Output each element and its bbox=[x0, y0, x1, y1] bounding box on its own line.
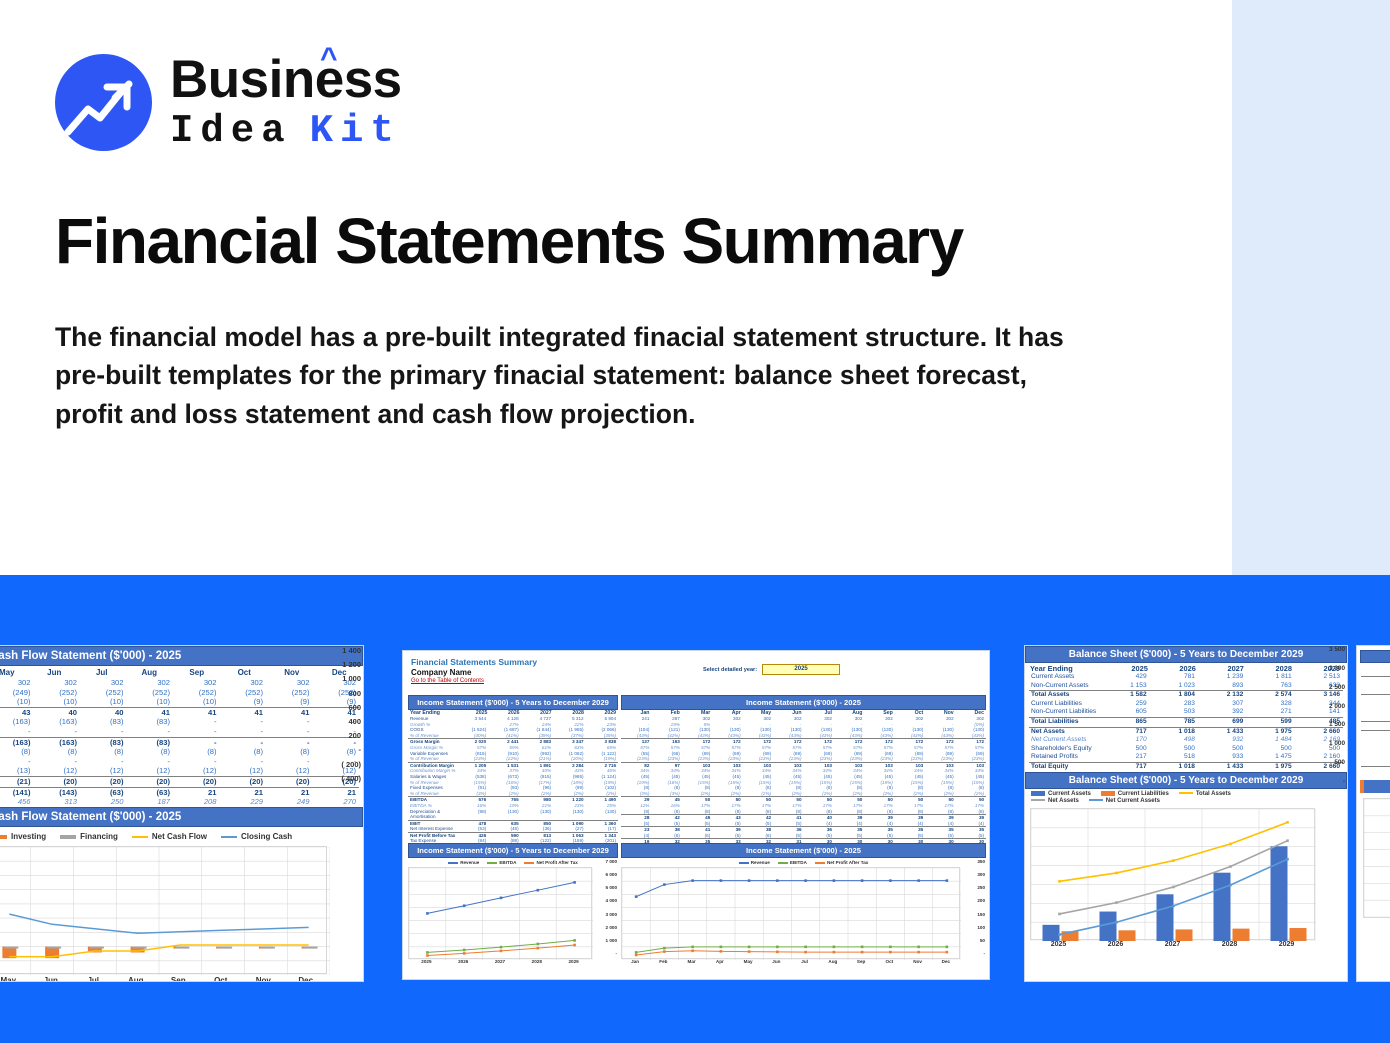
cash-flow-cell: (12) bbox=[173, 766, 220, 776]
bs-row-header: Year Ending bbox=[1029, 664, 1103, 673]
bs-row: Retained Profits2175189331 4752 160 bbox=[1029, 753, 1343, 762]
is-cell: (4) bbox=[834, 821, 864, 827]
cash-flow-cell: - bbox=[173, 757, 220, 767]
is-cell: (43%) bbox=[712, 733, 742, 739]
is-cell: (2%) bbox=[895, 791, 925, 797]
bs-cell: 170 bbox=[1101, 736, 1149, 745]
bs-cell: 217 bbox=[1101, 753, 1149, 762]
legend-swatch bbox=[1031, 791, 1045, 796]
is-cell: (53) bbox=[456, 826, 488, 832]
legend-label: Net Cash Flow bbox=[152, 832, 207, 841]
is-row: % of Revenue(23%)(22%)(21%)(20%)(19%) bbox=[408, 756, 618, 762]
is-cell: (42%) bbox=[651, 733, 681, 739]
cash-flow-cell: (12) bbox=[266, 766, 313, 776]
is-cell: (2%) bbox=[521, 791, 553, 797]
cash-flow-cell: (20) bbox=[127, 777, 174, 787]
is-row: 284245434241403939393939 bbox=[621, 814, 986, 821]
legend-label: Closing Cash bbox=[241, 832, 292, 841]
cash-flow-cell: - bbox=[266, 717, 313, 727]
far-right-panel[interactable]: Jan 1 1741241 297936927865121 0815001251… bbox=[1356, 645, 1390, 982]
cash-flow-panel[interactable]: Cash Flow Statement ($'000) - 2025 MayJu… bbox=[0, 645, 364, 982]
is-cell: (130) bbox=[586, 809, 618, 820]
legend-swatch bbox=[1089, 799, 1103, 801]
is-cell: (35%) bbox=[586, 733, 618, 739]
y-tick: 1 400 bbox=[327, 646, 361, 660]
is-cell: (130) bbox=[488, 809, 520, 820]
bs-row: Non-Current Assets1 1531 023893763633 bbox=[1029, 682, 1343, 691]
cash-flow-cell: (10) bbox=[127, 697, 174, 707]
is-cell: (5) bbox=[864, 833, 894, 839]
legend-swatch bbox=[1031, 799, 1045, 801]
is-cell: (36) bbox=[521, 826, 553, 832]
bs-row: Non-Current Liabilities605503392271141 bbox=[1029, 708, 1343, 717]
balance-sheet-panel[interactable]: Balance Sheet ($'000) - 5 Years to Decem… bbox=[1024, 645, 1348, 982]
cash-flow-cell: (12) bbox=[34, 766, 81, 776]
cash-flow-month-header: Aug bbox=[126, 668, 174, 677]
cash-flow-cell: (10) bbox=[34, 697, 81, 707]
bs-cell: 2 574 bbox=[1246, 691, 1294, 700]
is-cell: (2%) bbox=[834, 791, 864, 797]
cash-flow-legend-item: Closing Cash bbox=[221, 832, 292, 841]
cash-flow-cell: - bbox=[266, 738, 313, 748]
is-cell: (2%) bbox=[925, 791, 955, 797]
cash-flow-cell: (20) bbox=[34, 777, 81, 787]
legend-label: Net Profit After Tax bbox=[536, 860, 577, 865]
legend-swatch bbox=[815, 862, 825, 864]
is-cell: (23%) bbox=[834, 756, 864, 762]
cash-flow-cell: - bbox=[127, 757, 174, 767]
cash-flow-cell: (21) bbox=[0, 777, 34, 787]
cash-flow-cell: - bbox=[173, 727, 220, 737]
legend-label: Net Assets bbox=[1048, 798, 1079, 804]
is-cell: (5) bbox=[834, 833, 864, 839]
bs-row: Current Liabilities259283307328344 bbox=[1029, 700, 1343, 709]
monthly-is-body: 241287302302302302302302302302302302-19%… bbox=[621, 716, 986, 851]
legend-label: Financing bbox=[80, 832, 118, 841]
x-tick: 2025 bbox=[1030, 941, 1087, 948]
y-tick: 5 000 bbox=[593, 885, 617, 898]
cash-flow-cell: (83) bbox=[80, 717, 127, 727]
is-cell: (5) bbox=[925, 833, 955, 839]
is-cell: (8) bbox=[773, 809, 803, 815]
bs-cell: 781 bbox=[1150, 673, 1198, 682]
is-cell: (2%) bbox=[488, 791, 520, 797]
far-cell: 692 bbox=[1361, 712, 1390, 721]
cash-flow-cell: (10) bbox=[173, 697, 220, 707]
cash-flow-row: (21)(20)(20)(20)(20)(20)(20)(20) bbox=[0, 776, 359, 787]
y-tick: 6 000 bbox=[593, 872, 617, 885]
is-cell: (2%) bbox=[864, 791, 894, 797]
y-tick: 1 000 bbox=[327, 674, 361, 688]
cash-flow-cell: 456 bbox=[0, 797, 34, 807]
year-picker[interactable]: Select detailed year: 2025 bbox=[703, 664, 840, 675]
x-tick: Sep bbox=[157, 976, 200, 982]
is-cell: (23%) bbox=[682, 756, 712, 762]
bs-row: Current Assets4297811 2391 8112 513 bbox=[1029, 673, 1343, 682]
y-tick: 150 bbox=[961, 912, 985, 925]
chart-legend-item: EBITDA bbox=[778, 860, 807, 865]
balance-sheet-chart-title: Balance Sheet ($'000) - 5 Years to Decem… bbox=[1025, 772, 1347, 789]
is-row: 294550505050505050505050 bbox=[621, 796, 986, 803]
y-tick: 200 bbox=[961, 898, 985, 911]
cash-flow-row: (8)(8)(8)(8)(8)(8)(8)(8) bbox=[0, 747, 359, 757]
monthly-is-title: Income Statement ($'000) - 2025 bbox=[621, 695, 986, 710]
bs-row-label: Total Equity bbox=[1029, 763, 1101, 772]
is-cell: (23%) bbox=[804, 756, 834, 762]
cash-flow-cell: (20) bbox=[266, 777, 313, 787]
is-row: (8)(8)(8)(8)(8)(8)(8)(8)(8)(8)(8)(8) bbox=[621, 809, 986, 815]
bs-legend-item: Current Liabilities bbox=[1101, 791, 1169, 797]
bs-cell: 1 484 bbox=[1246, 736, 1294, 745]
balance-sheet-y-axis: 3 5003 0002 5002 0001 5001 000500- bbox=[1315, 646, 1345, 797]
bs-row: Shareholder's Equity500500500500500 bbox=[1029, 745, 1343, 754]
far-column-header: Jan bbox=[1361, 667, 1390, 677]
is-cell: (43%) bbox=[773, 733, 803, 739]
cash-flow-cell: 302 bbox=[80, 678, 127, 688]
cash-flow-cell: (8) bbox=[0, 747, 34, 757]
legend-label: EBITDA bbox=[790, 860, 807, 865]
is-cell: (8) bbox=[804, 809, 834, 815]
cash-flow-x-axis: MayJunJulAugSepOctNovDec bbox=[0, 976, 327, 982]
is-cell: (6) bbox=[651, 833, 681, 839]
x-tick: Jul bbox=[72, 976, 115, 982]
far-panel-chart-x-axis: Jan bbox=[1357, 920, 1390, 927]
cash-flow-row: (13)(12)(12)(12)(12)(12)(12)(12) bbox=[0, 766, 359, 776]
is-row: % of Revenue(40%)(41%)(39%)(37%)(35%) bbox=[408, 733, 618, 739]
bs-cell: 500 bbox=[1101, 745, 1149, 754]
is-cell: (2%) bbox=[956, 791, 986, 797]
is-row: 137163172172172172172172172172172172 bbox=[621, 738, 986, 745]
is-cell: (4) bbox=[956, 821, 986, 827]
cash-flow-cell: (143) bbox=[34, 788, 81, 798]
far-panel-chart bbox=[1363, 798, 1390, 918]
balance-sheet-columns: Year Ending20252026202720282029 bbox=[1029, 664, 1343, 673]
cash-flow-cell: (163) bbox=[34, 738, 81, 748]
far-cell: 93 bbox=[1361, 703, 1390, 712]
cash-flow-row: (163)(163)(83)(83)---- bbox=[0, 737, 359, 748]
is-row: (5)(5)(5)(5)(5)(5)(4)(4)(4)(4)(4)(4) bbox=[621, 821, 986, 827]
y-tick: 600 bbox=[327, 703, 361, 717]
far-cell: 12 bbox=[1361, 757, 1390, 766]
x-tick: 2026 bbox=[1087, 941, 1144, 948]
bs-cell: 1 018 bbox=[1150, 728, 1198, 737]
is-cell: (45) bbox=[488, 826, 520, 832]
is-row: (23%)(23%)(23%)(23%)(23%)(23%)(23%)(23%)… bbox=[621, 756, 986, 762]
cash-flow-cell: (10) bbox=[0, 697, 34, 707]
is-row-label: Net Interest Expense bbox=[408, 826, 456, 832]
is-cell: (5) bbox=[895, 833, 925, 839]
bs-row-label: Shareholder's Equity bbox=[1029, 745, 1101, 754]
cash-flow-cell: (8) bbox=[266, 747, 313, 757]
cash-flow-cell: (8) bbox=[80, 747, 127, 757]
legend-label: Revenue bbox=[460, 860, 479, 865]
bs-row-label: Total Liabilities bbox=[1029, 718, 1101, 727]
cash-flow-cell: 40 bbox=[80, 708, 127, 718]
cash-flow-cell: (8) bbox=[173, 747, 220, 757]
legend-label: Revenue bbox=[751, 860, 770, 865]
is-cell: (98) bbox=[456, 809, 488, 820]
table-of-contents-link[interactable]: Go to the Table of Contents bbox=[411, 678, 989, 684]
is-cell: (43%) bbox=[682, 733, 712, 739]
is-cell: (43%) bbox=[743, 733, 773, 739]
monthly-chart-title: Income Statement ($'000) - 2025 bbox=[621, 843, 986, 858]
is-cell: (43%) bbox=[895, 733, 925, 739]
legend-swatch bbox=[739, 862, 749, 864]
financial-summary-panel[interactable]: Financial Statements Summary Company Nam… bbox=[402, 650, 990, 980]
annual-chart-y-axis: 7 0006 0005 0004 0003 0002 0001 000- bbox=[593, 859, 617, 964]
is-cell: (2%) bbox=[712, 791, 742, 797]
cash-flow-cell: (20) bbox=[173, 777, 220, 787]
bs-column-header: 2025 bbox=[1103, 664, 1151, 673]
cash-flow-cell: 21 bbox=[313, 788, 360, 798]
x-tick: Nov bbox=[242, 976, 285, 982]
cash-flow-cell: - bbox=[220, 717, 267, 727]
y-tick: 50 bbox=[961, 938, 985, 951]
y-tick: - bbox=[1315, 778, 1345, 797]
bs-cell: 1 475 bbox=[1246, 753, 1294, 762]
y-tick: - bbox=[961, 951, 985, 964]
is-cell: (37%) bbox=[553, 733, 585, 739]
hero-section: Business ^ Idea Kit Financial Statements… bbox=[0, 0, 1390, 575]
cash-flow-cell: 21 bbox=[173, 788, 220, 798]
is-cell: (20%) bbox=[553, 756, 585, 762]
is-row: EBIT4786358501 0901 360 bbox=[408, 820, 618, 827]
cash-flow-cell: (10) bbox=[80, 697, 127, 707]
is-cell: (43%) bbox=[834, 733, 864, 739]
cash-flow-cell: 250 bbox=[80, 797, 127, 807]
cash-flow-cell: - bbox=[266, 757, 313, 767]
cash-flow-cell: - bbox=[173, 738, 220, 748]
monthly-chart-legend: RevenueEBITDANet Profit After Tax bbox=[621, 858, 986, 867]
cash-flow-row: 302302302302302302302302 bbox=[0, 678, 359, 688]
cash-flow-cell: (83) bbox=[127, 717, 174, 727]
bs-cell: 1 975 bbox=[1246, 728, 1294, 737]
cash-flow-cell: 208 bbox=[173, 797, 220, 807]
y-tick: - bbox=[327, 745, 361, 759]
bs-cell: 605 bbox=[1101, 708, 1149, 717]
is-cell: (8) bbox=[834, 809, 864, 815]
y-tick: 1 000 bbox=[1315, 740, 1345, 759]
cash-flow-cell: - bbox=[34, 757, 81, 767]
is-cell: (2%) bbox=[586, 791, 618, 797]
cash-flow-cell: (163) bbox=[0, 717, 34, 727]
center-heading: Financial Statements Summary bbox=[411, 657, 989, 667]
cash-flow-legend-item: Financing bbox=[60, 832, 118, 841]
cash-flow-month-headers: MayJunJulAugSepOctNovDec bbox=[0, 666, 363, 678]
bs-cell: 498 bbox=[1150, 736, 1198, 745]
bs-legend-row: Net AssetsNet Current Assets bbox=[1031, 798, 1341, 804]
far-panel-table: Jan 1 1741241 297936927865121 0815001251… bbox=[1357, 667, 1390, 775]
bs-cell: 1 239 bbox=[1198, 673, 1246, 682]
legend-label: Current Assets bbox=[1048, 791, 1091, 797]
legend-label: Current Liabilities bbox=[1118, 791, 1169, 797]
x-tick: May bbox=[0, 976, 30, 982]
cash-flow-cell: (163) bbox=[0, 738, 34, 748]
bs-row-label: Non-Current Liabilities bbox=[1029, 708, 1101, 717]
cash-flow-cell: 302 bbox=[266, 678, 313, 688]
x-tick: Dec bbox=[285, 976, 328, 982]
legend-swatch bbox=[0, 835, 7, 839]
is-row: (4)(6)(6)(6)(6)(5)(5)(5)(5)(5)(5)(5) bbox=[621, 833, 986, 839]
bs-cell: 392 bbox=[1198, 708, 1246, 717]
bs-cell: 933 bbox=[1198, 753, 1246, 762]
cash-flow-cell: (12) bbox=[220, 766, 267, 776]
bs-cell: 1 018 bbox=[1150, 763, 1198, 772]
is-row: Contribution Margin1 2051 5311 8912 2842… bbox=[408, 762, 618, 769]
is-cell: (2%) bbox=[743, 791, 773, 797]
far-cell: 512 bbox=[1361, 766, 1390, 776]
is-cell: (8) bbox=[621, 809, 651, 815]
is-cell: (23%) bbox=[712, 756, 742, 762]
monthly-chart-y-axis: 35030025020015010050- bbox=[961, 859, 985, 964]
y-tick: 200 bbox=[327, 731, 361, 745]
annual-is-title: Income Statement ($'000) - 5 Years to De… bbox=[408, 695, 618, 710]
bs-cell: 599 bbox=[1246, 718, 1294, 727]
is-cell: (8) bbox=[895, 809, 925, 815]
bs-cell: 1 811 bbox=[1246, 673, 1294, 682]
brand-logo: Business ^ Idea Kit bbox=[55, 53, 402, 151]
bs-cell: 2 132 bbox=[1198, 691, 1246, 700]
is-cell: (8) bbox=[956, 809, 986, 815]
annual-is-body: Revenue3 5444 1284 7275 3125 904Growth %… bbox=[408, 716, 618, 856]
page-description: The financial model has a pre-built inte… bbox=[55, 318, 1085, 433]
bs-cell: 500 bbox=[1246, 745, 1294, 754]
annual-chart-legend: RevenueEBITDANet Profit After Tax bbox=[408, 858, 618, 867]
cash-flow-cell: 229 bbox=[220, 797, 267, 807]
x-tick: 2027 bbox=[1144, 941, 1201, 948]
is-cell: (17) bbox=[586, 826, 618, 832]
cash-flow-cell: - bbox=[127, 727, 174, 737]
bs-column-header: 2028 bbox=[1247, 664, 1295, 673]
bs-legend-item: Total Assets bbox=[1179, 791, 1231, 797]
is-row: Depreciation & Amortisation(98)(130)(130… bbox=[408, 809, 618, 820]
cash-flow-y-axis: 1 4001 2001 000800600400200-( 200)( 400) bbox=[327, 646, 361, 788]
is-cell: (8) bbox=[682, 809, 712, 815]
chart-legend-item: Net Profit After Tax bbox=[524, 860, 577, 865]
monthly-income-statement: Income Statement ($'000) - 2025 JanFebMa… bbox=[621, 695, 986, 851]
is-cell: (5) bbox=[743, 821, 773, 827]
cash-flow-month-header: Nov bbox=[268, 668, 316, 677]
is-cell: (23%) bbox=[895, 756, 925, 762]
y-tick: ( 200) bbox=[327, 760, 361, 774]
cash-flow-cell: - bbox=[80, 727, 127, 737]
y-tick: 3 000 bbox=[1315, 665, 1345, 684]
cash-flow-table-title: Cash Flow Statement ($'000) - 2025 bbox=[0, 646, 363, 666]
cash-flow-cell: 249 bbox=[266, 797, 313, 807]
is-cell: (21%) bbox=[521, 756, 553, 762]
y-tick: 350 bbox=[961, 859, 985, 872]
far-cell: 512 bbox=[1361, 730, 1390, 740]
cash-flow-row: (141)(143)(63)(63)21212121 bbox=[0, 787, 359, 798]
bs-cell: 1 433 bbox=[1198, 728, 1246, 737]
is-row: Gross Margin2 0202 4412 8833 3473 838 bbox=[408, 738, 618, 745]
chart-legend-item: Net Profit After Tax bbox=[815, 860, 868, 865]
legend-label: Total Assets bbox=[1196, 791, 1231, 797]
cash-flow-cell: (249) bbox=[0, 688, 34, 698]
legend-label: Investing bbox=[11, 832, 46, 841]
is-cell: (43%) bbox=[804, 733, 834, 739]
year-picker-label: Select detailed year: bbox=[703, 667, 757, 673]
bs-row-label: Net Assets bbox=[1029, 728, 1101, 737]
far-panel-body: 1 1741241 297936927865121 08150012512 bbox=[1361, 677, 1390, 776]
cash-flow-cell: 302 bbox=[173, 678, 220, 688]
is-row-label: % of Revenue bbox=[408, 791, 456, 797]
far-panel-title-bar bbox=[1360, 650, 1390, 663]
brand-hat-accent: ^ bbox=[320, 44, 337, 74]
is-cell: (27) bbox=[553, 826, 585, 832]
cash-flow-cell: (252) bbox=[80, 688, 127, 698]
is-cell: (19%) bbox=[586, 756, 618, 762]
legend-label: Net Current Assets bbox=[1106, 798, 1160, 804]
annual-income-chart-block: Income Statement ($'000) - 5 Years to De… bbox=[408, 843, 618, 964]
x-tick: Jun bbox=[30, 976, 73, 982]
cash-flow-cell: (63) bbox=[80, 788, 127, 798]
is-cell: (41%) bbox=[488, 733, 520, 739]
cash-flow-row: (10)(10)(10)(10)(10)(9)(9)(9) bbox=[0, 697, 359, 707]
bs-cell: 271 bbox=[1246, 708, 1294, 717]
bs-cell: 1 023 bbox=[1150, 682, 1198, 691]
y-tick: 1 000 bbox=[593, 938, 617, 951]
cash-flow-cell: - bbox=[34, 727, 81, 737]
is-cell: (43%) bbox=[925, 733, 955, 739]
cash-flow-cell: 41 bbox=[173, 708, 220, 718]
bs-cell: 518 bbox=[1150, 753, 1198, 762]
cash-flow-cell: (252) bbox=[173, 688, 220, 698]
cash-flow-cell: (8) bbox=[220, 747, 267, 757]
is-cell: (5) bbox=[804, 833, 834, 839]
legend-swatch bbox=[1101, 791, 1115, 796]
cash-flow-chart-legend: InvestingFinancingNet Cash FlowClosing C… bbox=[0, 827, 363, 844]
annual-chart-plot bbox=[408, 867, 592, 959]
bs-cell: 763 bbox=[1246, 682, 1294, 691]
is-cell: (23%) bbox=[864, 756, 894, 762]
is-cell: (5) bbox=[682, 821, 712, 827]
bs-row: Total Assets1 5821 8042 1322 5743 146 bbox=[1029, 690, 1343, 700]
legend-swatch bbox=[778, 862, 788, 864]
cash-flow-cell: - bbox=[0, 757, 34, 767]
is-cell: (8) bbox=[712, 809, 742, 815]
y-tick: 300 bbox=[961, 872, 985, 885]
cash-flow-row: 4340404141414141 bbox=[0, 707, 359, 718]
year-picker-input[interactable]: 2025 bbox=[762, 664, 840, 675]
cash-flow-month-header: Jun bbox=[31, 668, 79, 677]
bs-cell: 865 bbox=[1101, 718, 1149, 727]
annual-income-statement: Income Statement ($'000) - 5 Years to De… bbox=[408, 695, 618, 856]
y-tick: 100 bbox=[961, 925, 985, 938]
is-row: (3%)(3%)(2%)(2%)(2%)(2%)(2%)(2%)(2%)(2%)… bbox=[621, 791, 986, 797]
hero-right-tint bbox=[1232, 0, 1390, 575]
cash-flow-cell: 270 bbox=[313, 797, 360, 807]
bs-column-header: 2027 bbox=[1199, 664, 1247, 673]
is-row: Net Interest Expense(53)(45)(36)(27)(17) bbox=[408, 826, 618, 832]
bs-cell: 503 bbox=[1150, 708, 1198, 717]
bs-cell: 307 bbox=[1198, 700, 1246, 709]
cash-flow-cell: 313 bbox=[34, 797, 81, 807]
bs-row: Net Assets7171 0181 4331 9752 660 bbox=[1029, 727, 1343, 737]
bs-cell: 785 bbox=[1150, 718, 1198, 727]
brand-name-text: Business bbox=[170, 50, 402, 109]
is-cell: (39%) bbox=[521, 733, 553, 739]
bs-cell: 328 bbox=[1246, 700, 1294, 709]
cash-flow-cell: (141) bbox=[0, 788, 34, 798]
cash-flow-cell: 302 bbox=[127, 678, 174, 688]
cash-flow-cell: (163) bbox=[34, 717, 81, 727]
y-tick: 500 bbox=[1315, 759, 1345, 778]
cash-flow-cell: (12) bbox=[80, 766, 127, 776]
annual-chart-title: Income Statement ($'000) - 5 Years to De… bbox=[408, 843, 618, 858]
is-cell: (3%) bbox=[456, 791, 488, 797]
legend-swatch bbox=[132, 836, 148, 838]
